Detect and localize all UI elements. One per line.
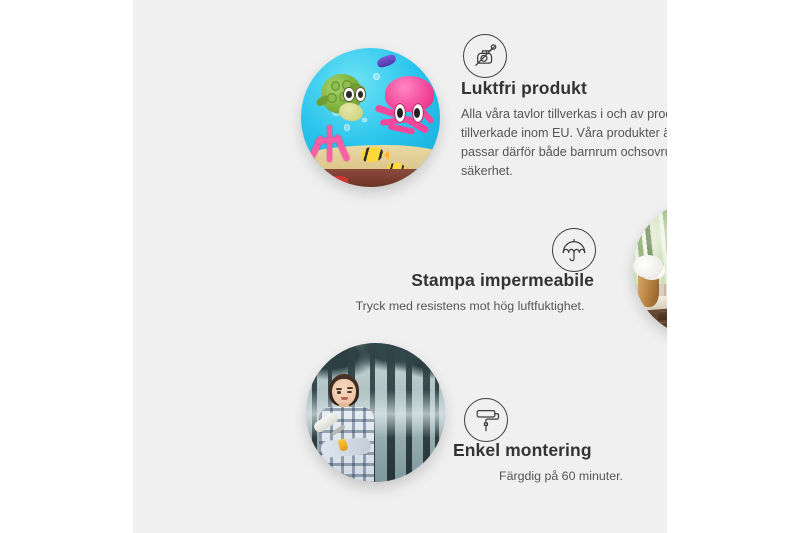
eyebrow — [336, 388, 342, 390]
octopus-eye — [412, 103, 424, 123]
octopus-icon — [379, 76, 437, 148]
eyebrow — [347, 387, 353, 389]
bathroom-botanical-wallpaper-photo — [633, 200, 667, 337]
turtle-eye — [355, 87, 366, 102]
feature-odourless-body: Alla våra tavlor tillverkas i och av pro… — [461, 105, 667, 181]
underwater-scene — [301, 48, 440, 187]
woman-with-roller — [314, 374, 389, 482]
feature-easy-body: Färgdig på 60 minuter. — [453, 467, 667, 486]
turtle-shell-spot — [331, 81, 341, 91]
octopus-head — [385, 76, 434, 112]
coral-icon — [308, 120, 355, 164]
feature-easy: Enkel montering Färgdig på 60 minuter. — [453, 440, 667, 485]
no-fragrance-icon — [463, 34, 507, 78]
coral-branch — [327, 125, 333, 162]
woman-paint-roller-forest-photo — [306, 343, 445, 482]
feature-odourless: Luktfri produkt Alla våra tavlor tillver… — [461, 78, 667, 180]
feature-easy-title: Enkel montering — [453, 440, 667, 462]
underwater-kids-mural-photo — [301, 48, 440, 187]
sea-turtle-icon — [314, 74, 371, 123]
bathroom-scene — [633, 200, 667, 337]
sea-foreground-band — [301, 169, 440, 187]
paint-roller-icon — [464, 398, 508, 442]
screenshot-stage: Luktfri produkt Alla våra tavlor tillver… — [0, 0, 800, 533]
feature-odourless-title: Luktfri produkt — [461, 78, 667, 100]
forest-scene — [306, 343, 445, 482]
feature-waterproof-body: Tryck med resistens mot hög luftfuktighe… — [346, 297, 594, 316]
feature-waterproof: Stampa impermeabile Tryck med resistens … — [346, 270, 594, 315]
yellow-fish-icon — [361, 147, 383, 162]
octopus-eye — [394, 103, 406, 123]
white-flower — [633, 255, 663, 278]
eye — [337, 391, 342, 393]
feature-waterproof-title: Stampa impermeabile — [346, 270, 594, 292]
promo-panel: Luktfri produkt Alla våra tavlor tillver… — [133, 0, 667, 533]
umbrella-icon — [552, 228, 596, 272]
turtle-shell-spot — [327, 93, 337, 103]
turtle-eye — [343, 87, 354, 102]
